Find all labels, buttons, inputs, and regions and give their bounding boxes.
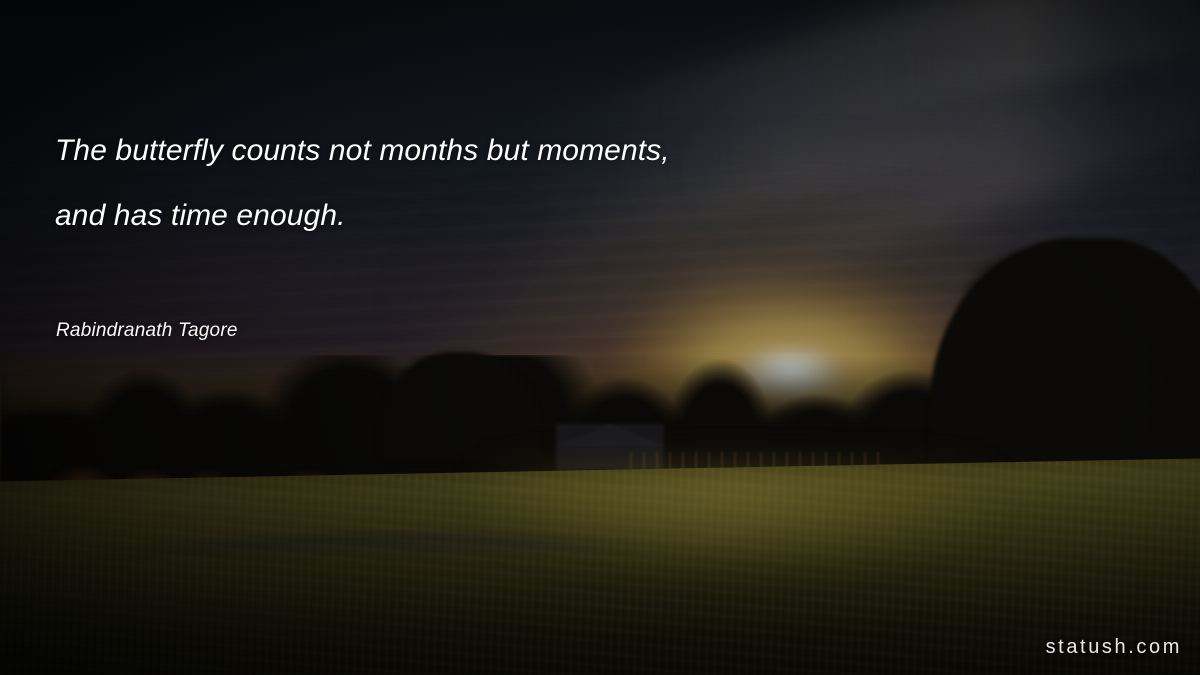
quote-text-block: The butterfly counts not months but mome… — [55, 118, 935, 248]
quote-line-1: The butterfly counts not months but mome… — [55, 118, 935, 183]
quote-author: Rabindranath Tagore — [56, 320, 238, 342]
quote-line-2: and has time enough. — [55, 183, 935, 248]
site-watermark: statush.com — [1046, 636, 1182, 659]
quote-image-canvas: The butterfly counts not months but mome… — [0, 0, 1200, 675]
